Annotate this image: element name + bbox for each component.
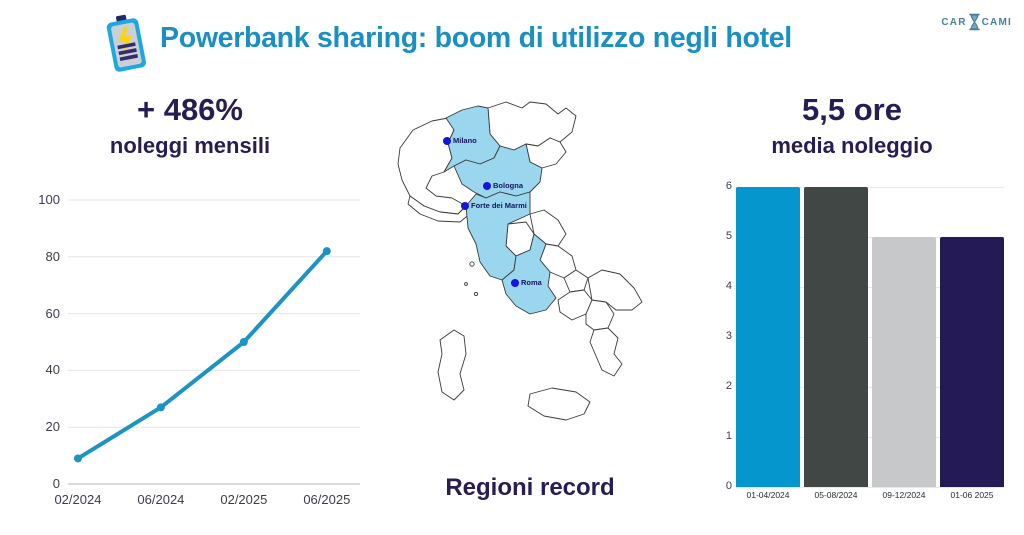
line-data-point [240,338,248,346]
gridline [736,487,1004,488]
panel-media-noleggio: 5,5 ore media noleggio 0123456 01-04/202… [680,82,1024,535]
bar-chart-bars [736,187,1004,487]
line-data-point [74,454,82,462]
bar-x-tick: 01-04/2024 [736,490,800,500]
panel-noleggi-mensili: + 486% noleggi mensili 02040608010002/20… [0,82,380,535]
bar-y-tick: 1 [712,430,732,442]
stat-block-left: + 486% noleggi mensili [0,90,380,162]
panel-regioni-record: MilanoBolognaForte dei MarmiRoma Regioni… [380,82,680,535]
italy-map[interactable]: MilanoBolognaForte dei MarmiRoma [380,88,680,478]
stat-label-percent: noleggi mensili [0,130,380,162]
line-y-tick: 60 [20,306,60,321]
bar-x-tick: 09-12/2024 [872,490,936,500]
bar-y-tick: 2 [712,380,732,392]
battery-charging-icon [97,10,155,76]
line-x-tick: 06/2024 [126,492,196,507]
stat-value-percent: + 486% [0,90,380,130]
map-label-milano: Milano [453,136,477,145]
bar-05-08/2024[interactable] [804,187,868,487]
bar-y-tick: 4 [712,280,732,292]
bar-x-tick: 05-08/2024 [804,490,868,500]
brand-logo[interactable]: CAR CAMI [926,10,1012,34]
bar-chart: 0123456 01-04/202405-08/202409-12/202401… [708,187,1008,517]
line-data-point [323,247,331,255]
bar-x-tick: 01-06 2025 [940,490,1004,500]
page-title: Powerbank sharing: boom di utilizzo negl… [160,22,900,55]
line-y-tick: 20 [20,419,60,434]
bar-09-12/2024[interactable] [872,237,936,487]
bar-01-06 2025[interactable] [940,237,1004,487]
bar-y-tick: 6 [712,180,732,192]
logo-word-left: CAR [941,17,966,28]
line-y-tick: 40 [20,362,60,377]
logo-word-right: CAMI [982,17,1012,28]
stat-block-right: 5,5 ore media noleggio [680,90,1024,162]
map-label-forte-dei-marmi: Forte dei Marmi [471,201,527,210]
line-y-tick: 100 [20,192,60,207]
bar-chart-plot [736,187,1004,487]
map-marker-forte-dei-marmi [461,202,469,210]
line-y-tick: 80 [20,249,60,264]
bar-01-04/2024[interactable] [736,187,800,487]
bar-y-tick: 3 [712,330,732,342]
line-chart: 02040608010002/202406/202402/202506/2025 [20,192,370,522]
stat-label-hours: media noleggio [680,130,1024,162]
map-label-roma: Roma [521,278,542,287]
map-marker-milano [443,137,451,145]
map-marker-bologna [483,182,491,190]
bar-y-tick: 5 [712,230,732,242]
line-x-tick: 02/2024 [43,492,113,507]
line-chart-plot [20,192,370,522]
map-label-bologna: Bologna [493,181,523,190]
map-caption: Regioni record [380,474,680,502]
infographic-root: Powerbank sharing: boom di utilizzo negl… [0,0,1024,535]
header: Powerbank sharing: boom di utilizzo negl… [0,0,1024,82]
stat-value-hours: 5,5 ore [680,90,1024,130]
line-x-tick: 06/2025 [292,492,362,507]
hourglass-icon [968,13,981,31]
bar-y-tick: 0 [712,480,732,492]
line-x-tick: 02/2025 [209,492,279,507]
line-data-point [157,403,165,411]
map-marker-roma [511,279,519,287]
line-y-tick: 0 [20,476,60,491]
